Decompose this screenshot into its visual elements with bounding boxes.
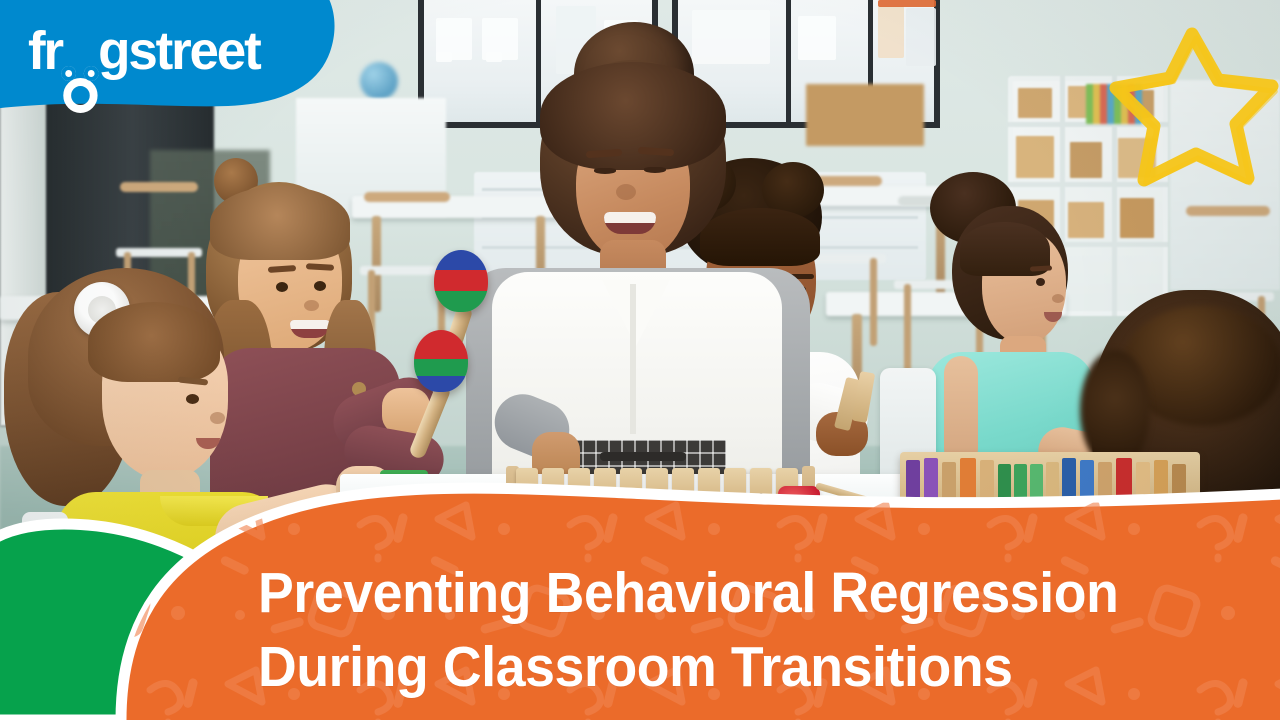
- cork-board: [806, 84, 924, 146]
- blog-header-graphic: fr gstreet Preventing Behavioral Regress…: [0, 0, 1280, 720]
- wooden-toy-bin: [900, 452, 1200, 532]
- logo-text-part-2: gstreet: [98, 21, 259, 81]
- page-title: Preventing Behavioral Regression During …: [258, 556, 1198, 704]
- wooden-xylophone: [512, 468, 808, 530]
- red-mallet-ball-left: [674, 494, 720, 540]
- logo-text-part-1: fr: [28, 21, 62, 81]
- logo-wordmark: fr gstreet: [28, 20, 260, 82]
- red-mallet-ball-right: [778, 486, 820, 538]
- colorful-books: [1086, 84, 1142, 124]
- globe-toy: [360, 62, 398, 100]
- frogstreet-logo[interactable]: fr gstreet: [0, 0, 360, 130]
